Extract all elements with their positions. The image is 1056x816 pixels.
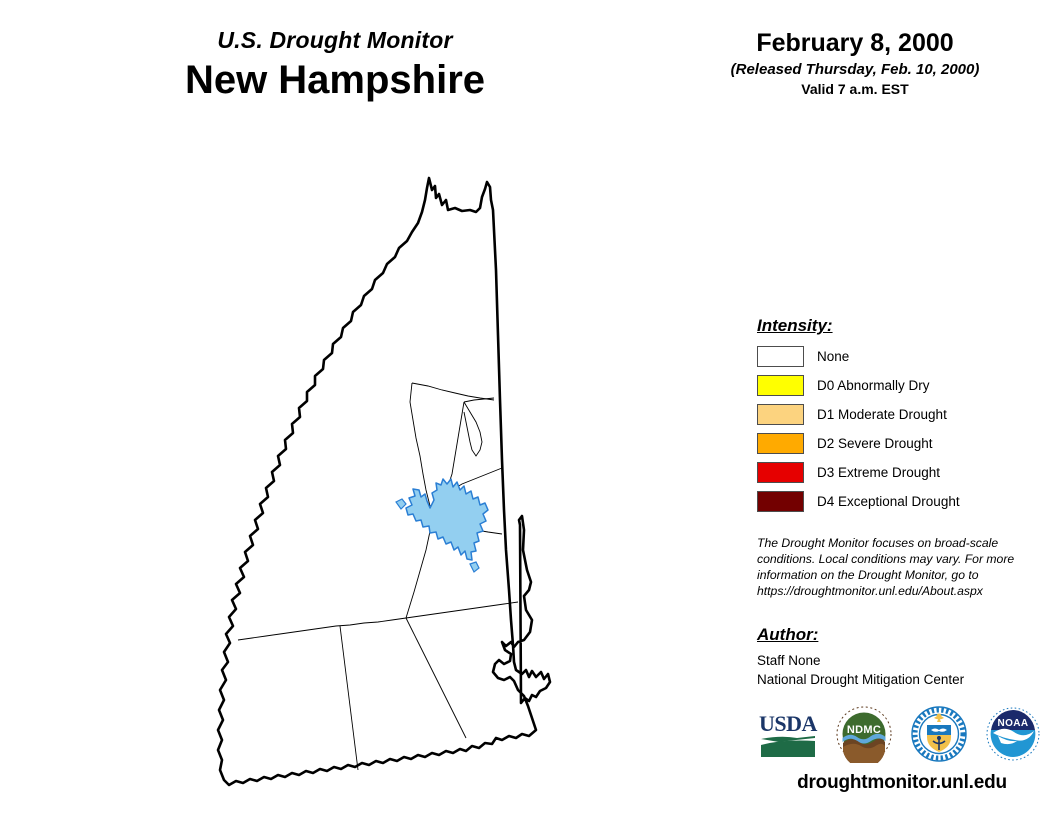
legend-swatch-d3: [757, 462, 804, 483]
author-block: Author: Staff None National Drought Miti…: [757, 625, 1047, 688]
legend-item-none: None: [757, 345, 1047, 368]
legend-swatch-none: [757, 346, 804, 367]
legend-label-d2: D2 Severe Drought: [817, 436, 933, 451]
logo-row: USDA NDMC: [757, 703, 1042, 765]
title-block: U.S. Drought Monitor New Hampshire: [110, 28, 560, 103]
author-name: Staff None: [757, 652, 1047, 670]
legend-item-d4: D4 Exceptional Drought: [757, 490, 1047, 513]
valid-time: Valid 7 a.m. EST: [690, 81, 1020, 97]
date-block: February 8, 2000 (Released Thursday, Feb…: [690, 30, 1020, 97]
legend-heading: Intensity:: [757, 316, 1047, 336]
new-hampshire-state-shape: [218, 178, 550, 785]
svg-text:NDMC: NDMC: [847, 724, 881, 736]
legend-label-none: None: [817, 349, 849, 364]
ndmc-logo: NDMC: [835, 705, 893, 763]
usda-logo: USDA: [757, 705, 819, 763]
legend-swatch-d2: [757, 433, 804, 454]
legend-swatch-d4: [757, 491, 804, 512]
svg-text:USDA: USDA: [759, 711, 818, 736]
drought-map: [180, 150, 600, 800]
legend-label-d1: D1 Moderate Drought: [817, 407, 947, 422]
author-organization: National Drought Mitigation Center: [757, 671, 1047, 689]
release-date: (Released Thursday, Feb. 10, 2000): [690, 61, 1020, 78]
state-title: New Hampshire: [110, 57, 560, 103]
legend-label-d3: D3 Extreme Drought: [817, 465, 940, 480]
legend-item-d2: D2 Severe Drought: [757, 432, 1047, 455]
usdc-seal-logo: [910, 705, 968, 763]
noaa-logo: NOAA: [984, 705, 1042, 763]
svg-text:NOAA: NOAA: [997, 718, 1028, 729]
legend-swatch-d0: [757, 375, 804, 396]
legend-label-d4: D4 Exceptional Drought: [817, 494, 960, 509]
site-url: droughtmonitor.unl.edu: [757, 772, 1047, 794]
state-outline-group: [218, 178, 550, 785]
legend-item-d0: D0 Abnormally Dry: [757, 374, 1047, 397]
map-date: February 8, 2000: [690, 30, 1020, 58]
legend-swatch-d1: [757, 404, 804, 425]
disclaimer-text: The Drought Monitor focuses on broad-sca…: [757, 535, 1019, 599]
legend-label-d0: D0 Abnormally Dry: [817, 378, 930, 393]
program-title: U.S. Drought Monitor: [110, 28, 560, 53]
author-heading: Author:: [757, 625, 1047, 645]
legend-panel: Intensity: None D0 Abnormally Dry D1 Mod…: [757, 316, 1047, 689]
legend-item-d1: D1 Moderate Drought: [757, 403, 1047, 426]
legend-item-d3: D3 Extreme Drought: [757, 461, 1047, 484]
